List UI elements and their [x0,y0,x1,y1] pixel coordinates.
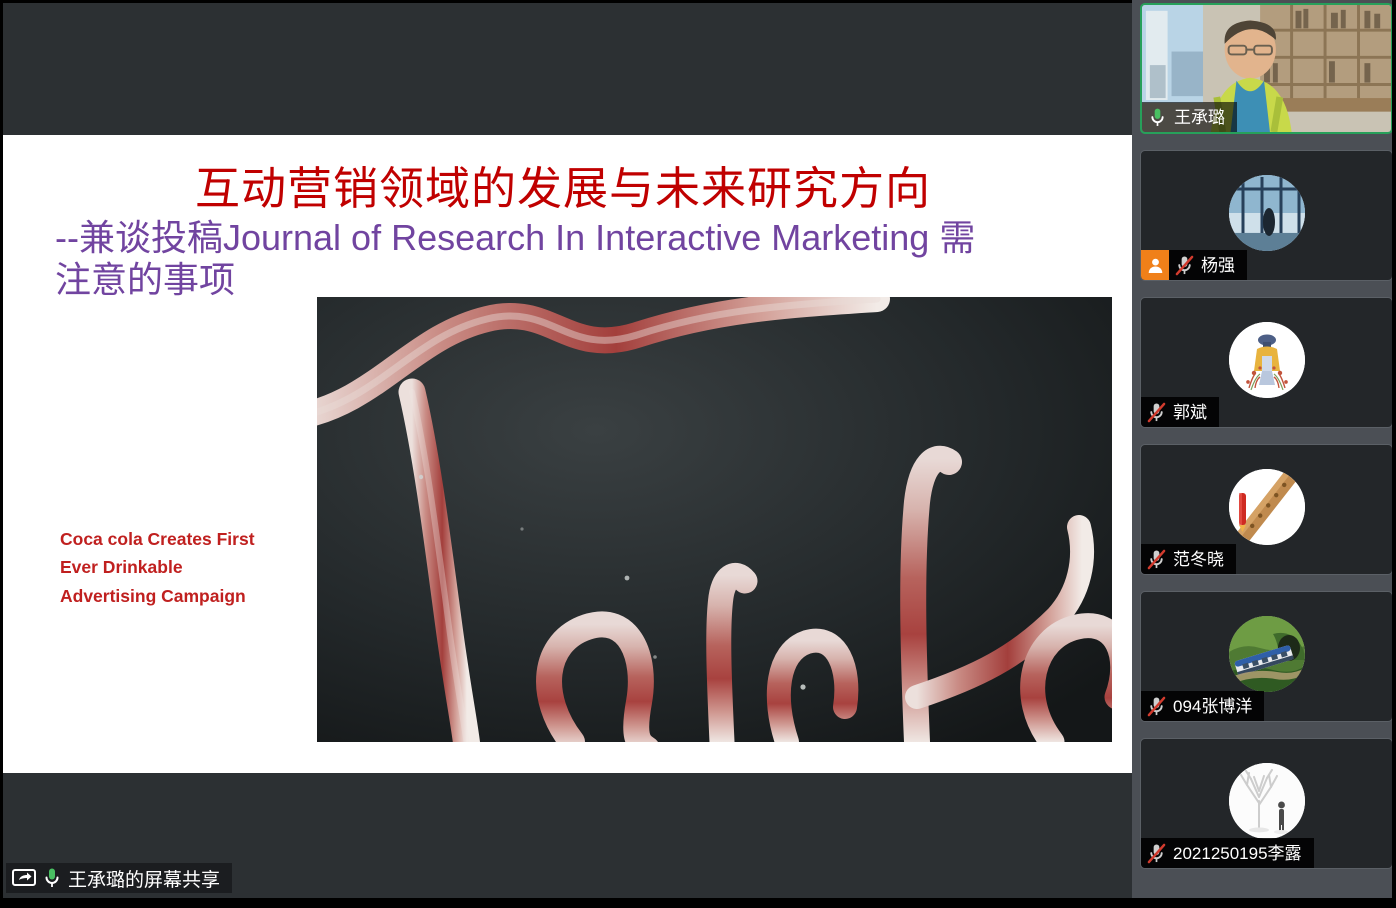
avatar [1229,468,1305,544]
participant-name: 范冬晓 [1171,551,1224,568]
participant-tile-lilu[interactable]: 2021250195李露 [1140,738,1393,869]
screen-share-label-text: 王承璐的屏幕共享 [68,865,220,892]
avatar [1229,762,1305,838]
participant-nameplate: 范冬晓 [1141,544,1236,574]
microphone-icon [44,867,60,889]
participant-name: 094张博洋 [1171,698,1252,715]
microphone-muted-icon [1141,838,1171,868]
microphone-icon [1142,102,1172,132]
avatar [1229,321,1305,397]
right-edge-border [1392,0,1396,908]
avatar [1229,174,1305,250]
slide-subtitle: --兼谈投稿Journal of Research In Interactive… [55,217,1055,302]
microphone-muted-icon [1169,250,1199,280]
participant-nameplate: 094张博洋 [1141,691,1264,721]
slide-caption-line3: Advertising Campaign [60,582,300,610]
presentation-slide[interactable]: 互动营销领域的发展与未来研究方向 --兼谈投稿Journal of Resear… [3,135,1132,773]
participant-nameplate: 杨强 [1141,250,1247,280]
slide-title: 互动营销领域的发展与未来研究方向 [3,165,1123,212]
slide-caption-line1: Coca cola Creates First [60,525,300,553]
participant-name: 王承璐 [1172,109,1225,126]
slide-subtitle-line1: --兼谈投稿Journal of Research In Interactive… [55,217,1055,259]
slide-subtitle-line2: 注意的事项 [55,259,1055,301]
participant-tile-guobin[interactable]: 郭斌 [1140,297,1393,428]
microphone-muted-icon [1141,691,1171,721]
avatar [1229,615,1305,691]
slide-photo-cursive-tubing [317,297,1112,742]
participant-nameplate: 郭斌 [1141,397,1219,427]
participant-filmstrip[interactable]: 王承璐 [1132,0,1396,908]
screen-share-label-bar: 王承璐的屏幕共享 [6,863,232,893]
participant-nameplate: 2021250195李露 [1141,838,1314,868]
participant-name: 2021250195李露 [1171,845,1302,862]
microphone-muted-icon [1141,544,1171,574]
participant-name: 郭斌 [1171,404,1207,421]
slide-caption: Coca cola Creates First Ever Drinkable A… [60,525,300,610]
shared-screen-region[interactable]: 互动营销领域的发展与未来研究方向 --兼谈投稿Journal of Resear… [3,3,1132,905]
zoom-meeting-window: 互动营销领域的发展与未来研究方向 --兼谈投稿Journal of Resear… [0,0,1396,908]
person-icon [1141,250,1169,280]
participant-tile-yangqiang[interactable]: 杨强 [1140,150,1393,281]
participant-name: 杨强 [1199,257,1235,274]
participant-tile-wangchenglu[interactable]: 王承璐 [1140,3,1393,134]
participant-nameplate: 王承璐 [1142,102,1237,132]
bottom-edge-border [0,898,1396,908]
participant-tile-zhangboyang[interactable]: 094张博洋 [1140,591,1393,722]
slide-caption-line2: Ever Drinkable [60,553,300,581]
participant-tile-fandongxiao[interactable]: 范冬晓 [1140,444,1393,575]
microphone-muted-icon [1141,397,1171,427]
screen-share-icon [12,869,36,888]
